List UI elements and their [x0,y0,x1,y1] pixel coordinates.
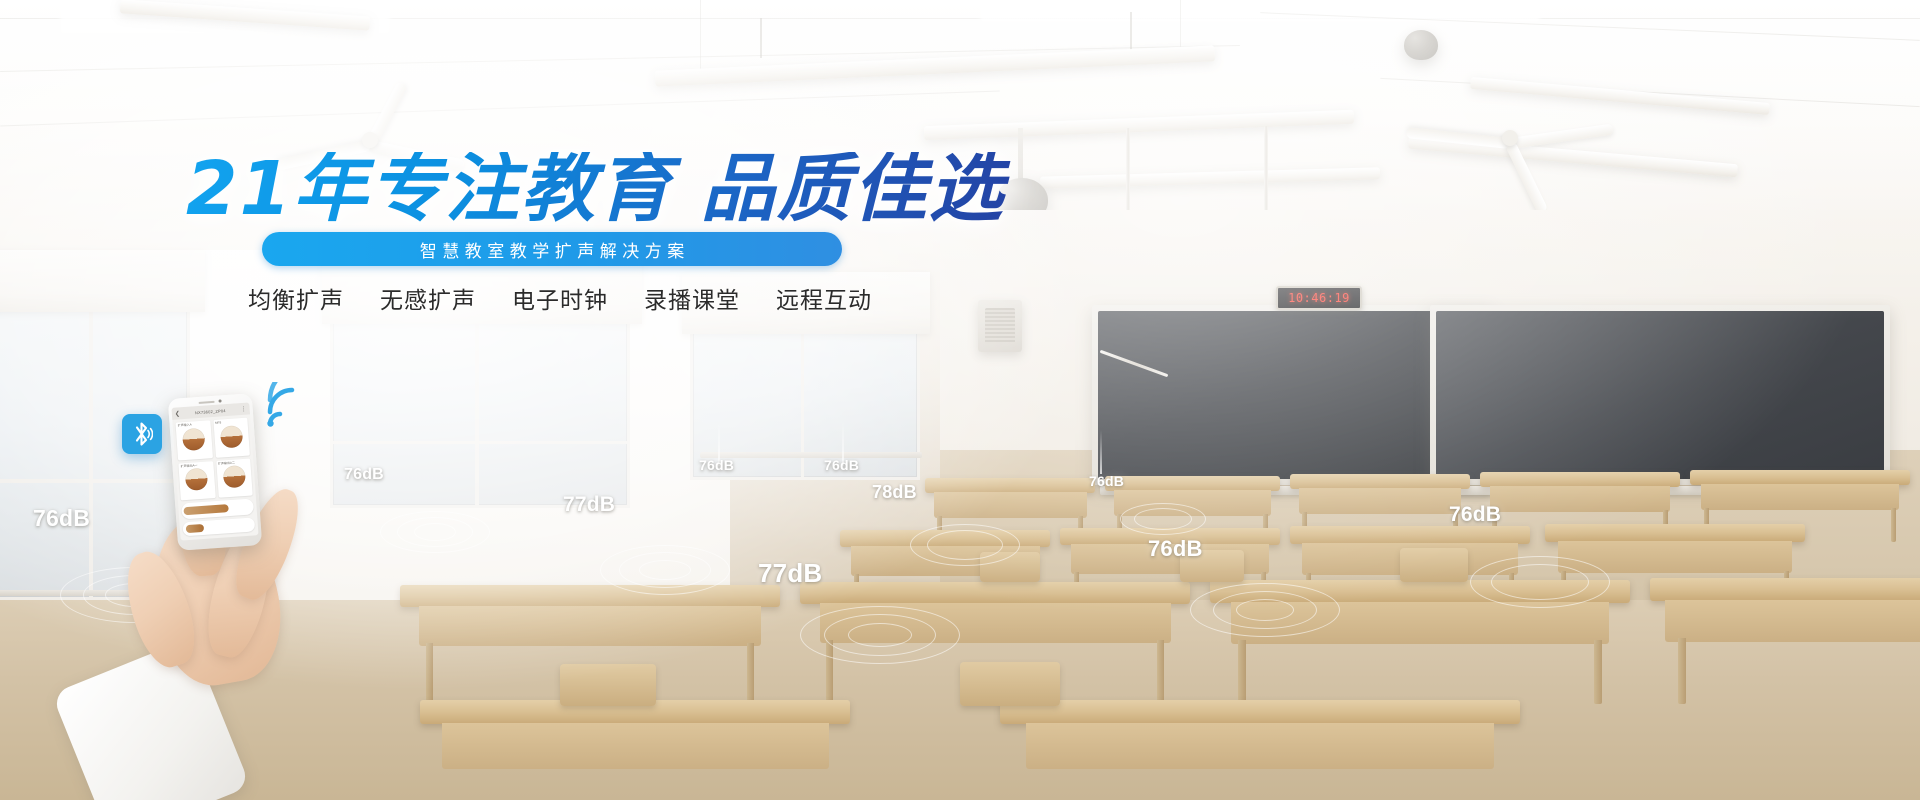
channel-card[interactable]: 扩声输出A一 [178,461,215,501]
blind-bottom-bar [0,590,190,596]
db-marker: 76dB [824,457,859,473]
chevron-left-icon[interactable]: ❮ [175,410,181,417]
channel-card[interactable]: 扩声输出A二 [216,458,253,498]
student-desk [1210,580,1630,696]
window-blind [0,250,205,312]
feature-list: 均衡扩声无感扩声电子时钟录播课堂远程互动 [248,281,872,315]
feature-item: 远程互动 [776,281,872,315]
volume-knob[interactable] [182,427,205,450]
channel-card[interactable]: 扩声输入A [175,420,212,460]
volume-knob[interactable] [185,468,208,491]
channel-label: MP3 [215,421,221,425]
app-title: NX73602_ZP04 [182,407,239,416]
db-marker: 76dB [1148,536,1203,562]
chair [1400,548,1468,582]
student-desk [1000,700,1520,800]
chair [960,662,1060,706]
db-marker: 76dB [1449,503,1501,527]
blackboard-right [1430,305,1890,485]
volume-knob[interactable] [222,465,245,488]
student-desk [420,700,850,800]
phone-screen[interactable]: ❮ NX73602_ZP04 ⋮ 扩声输入AMP3扩声输出A一扩声输出A二 [171,402,258,540]
more-vertical-icon[interactable]: ⋮ [240,405,246,412]
wall-speaker [978,300,1022,352]
db-marker: 76dB [1089,473,1124,489]
volume-knob[interactable] [220,425,243,448]
banner-stage: 10:46:19 [0,0,1920,800]
channel-card[interactable]: MP3 [213,418,250,458]
db-marker: 77dB [563,493,615,517]
feature-item: 均衡扩声 [248,281,344,315]
bluetooth-icon [122,414,162,454]
db-marker: 76dB [699,457,734,473]
db-marker: 77dB [758,558,822,589]
secondary-slider[interactable] [182,517,255,536]
clock-time: 10:46:19 [1288,291,1350,305]
ceiling-fan [1400,108,1620,168]
window [0,300,190,600]
lamp-rod [760,18,762,58]
page-title: 21年专注教育 品质佳选 [186,152,1086,226]
smartphone[interactable]: ❮ NX73602_ZP04 ⋮ 扩声输入AMP3扩声输出A一扩声输出A二 [168,393,262,550]
phone-earpiece [199,399,222,404]
db-marker: 76dB [33,505,90,532]
feature-item: 无感扩声 [380,281,476,315]
feature-item: 录播课堂 [644,281,740,315]
db-marker: 76dB [344,466,384,484]
ceiling-sensor [1404,30,1438,60]
subtitle-pill: 智慧教室教学扩声解决方案 [262,232,842,266]
chair [980,552,1040,582]
channel-label: 扩声输入A [178,424,192,429]
headline-block: 21年专注教育 品质佳选 [186,152,1086,226]
db-marker: 78dB [872,482,917,503]
feature-item: 电子时钟 [512,281,608,315]
electronic-clock: 10:46:19 [1276,286,1362,310]
subtitle-pill-text: 智慧教室教学扩声解决方案 [414,237,690,262]
sound-beam [1100,430,1102,474]
student-desk [1650,578,1920,696]
wireless-signal-icon [262,382,314,428]
channel-card-grid: 扩声输入AMP3扩声输出A一扩声输出A二 [172,414,256,503]
chair [560,664,656,706]
